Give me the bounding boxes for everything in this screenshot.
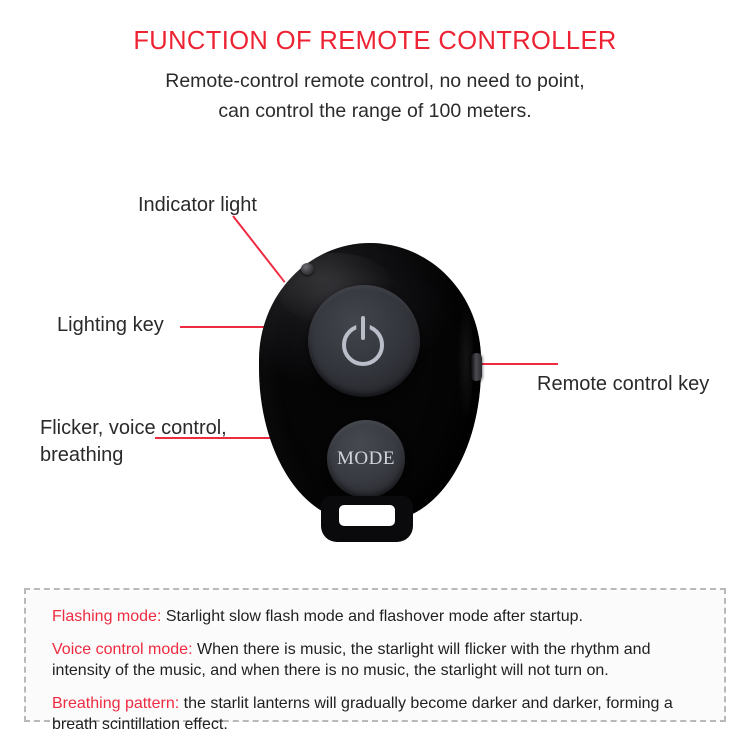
mode-description-breathing: Breathing pattern: the starlit lanterns … xyxy=(52,693,702,736)
keychain-loop-hole xyxy=(339,505,395,526)
subtitle-line-1: Remote-control remote control, no need t… xyxy=(0,66,750,96)
device-body-shell: MODE xyxy=(259,243,481,521)
callout-indicator-light: Indicator light xyxy=(138,192,257,219)
callout-flicker-line-2: breathing xyxy=(40,442,227,469)
mode-description-voice-control: Voice control mode: When there is music,… xyxy=(52,639,702,682)
mode-label-breathing: Breathing pattern: xyxy=(52,695,179,712)
mode-button[interactable]: MODE xyxy=(327,420,405,498)
callout-remote-control-key: Remote control key xyxy=(537,371,709,398)
mode-label-flashing: Flashing mode: xyxy=(52,608,161,625)
mode-button-label: MODE xyxy=(337,448,395,470)
power-button[interactable] xyxy=(308,285,420,397)
remote-control-device: MODE xyxy=(259,243,481,543)
callout-flicker-voice-breathing: Flicker, voice control, breathing xyxy=(40,415,227,469)
page-title: FUNCTION OF REMOTE CONTROLLER xyxy=(0,27,750,56)
mode-description-flashing: Flashing mode: Starlight slow flash mode… xyxy=(52,606,702,628)
indicator-light xyxy=(301,263,314,275)
keychain-loop xyxy=(321,496,413,542)
callout-lighting-key: Lighting key xyxy=(57,312,164,339)
mode-description-box: Flashing mode: Starlight slow flash mode… xyxy=(24,588,726,722)
page-subtitle: Remote-control remote control, no need t… xyxy=(0,66,750,126)
side-remote-control-key[interactable] xyxy=(471,353,482,381)
subtitle-line-2: can control the range of 100 meters. xyxy=(0,96,750,126)
mode-text-flashing: Starlight slow flash mode and flashover … xyxy=(161,608,583,625)
mode-label-voice-control: Voice control mode: xyxy=(52,641,193,658)
infographic-page: FUNCTION OF REMOTE CONTROLLER Remote-con… xyxy=(0,0,750,750)
leader-line-remote-control-key xyxy=(478,363,558,365)
power-icon xyxy=(338,315,390,367)
